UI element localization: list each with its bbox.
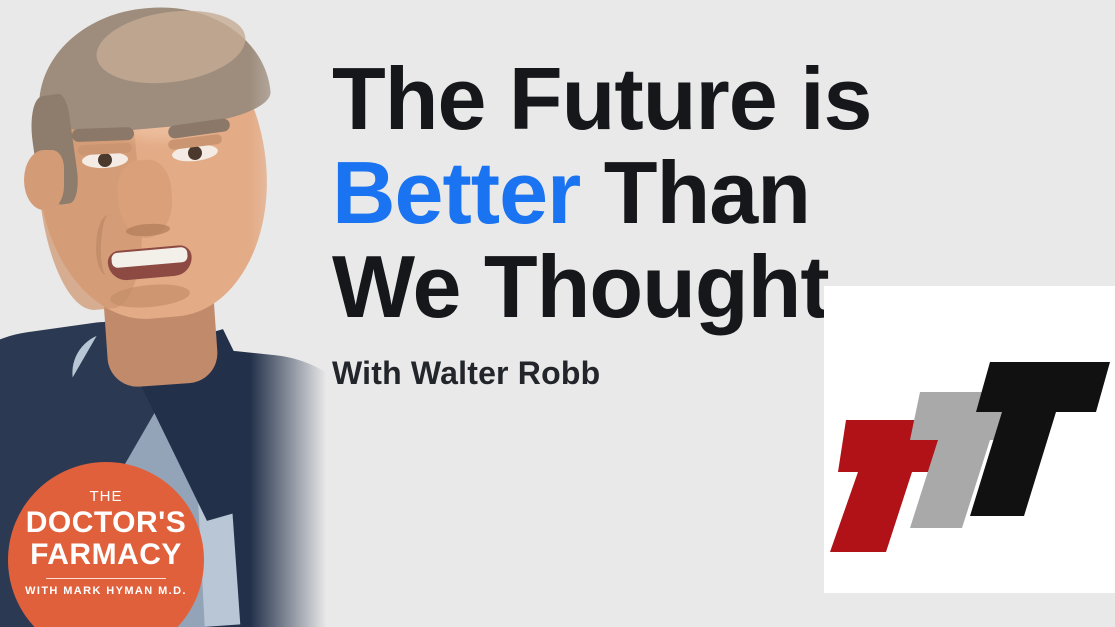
- eyebrow-left: [72, 127, 134, 142]
- ttt-logo-graphic: [824, 286, 1115, 593]
- title-line-1: The Future is: [332, 56, 1032, 142]
- badge-the-label: THE: [8, 488, 204, 505]
- portrait-edge-fade: [250, 0, 340, 627]
- badge-doctors-label: DOCTOR'S: [8, 507, 204, 539]
- video-thumbnail: The Future is Better Than We Thought Wit…: [0, 0, 1115, 627]
- pupil-left: [98, 153, 113, 168]
- ttt-logo: [824, 286, 1115, 593]
- teeth: [111, 247, 188, 269]
- badge-farmacy-label: FARMACY: [8, 539, 204, 571]
- title-line-2: Better Than: [332, 150, 1032, 236]
- badge-divider: [46, 578, 166, 579]
- title-highlight-word: Better: [332, 143, 580, 242]
- ear: [24, 150, 64, 210]
- badge-host-label: WITH MARK HYMAN M.D.: [8, 585, 204, 597]
- title-line-2-rest: Than: [604, 143, 810, 242]
